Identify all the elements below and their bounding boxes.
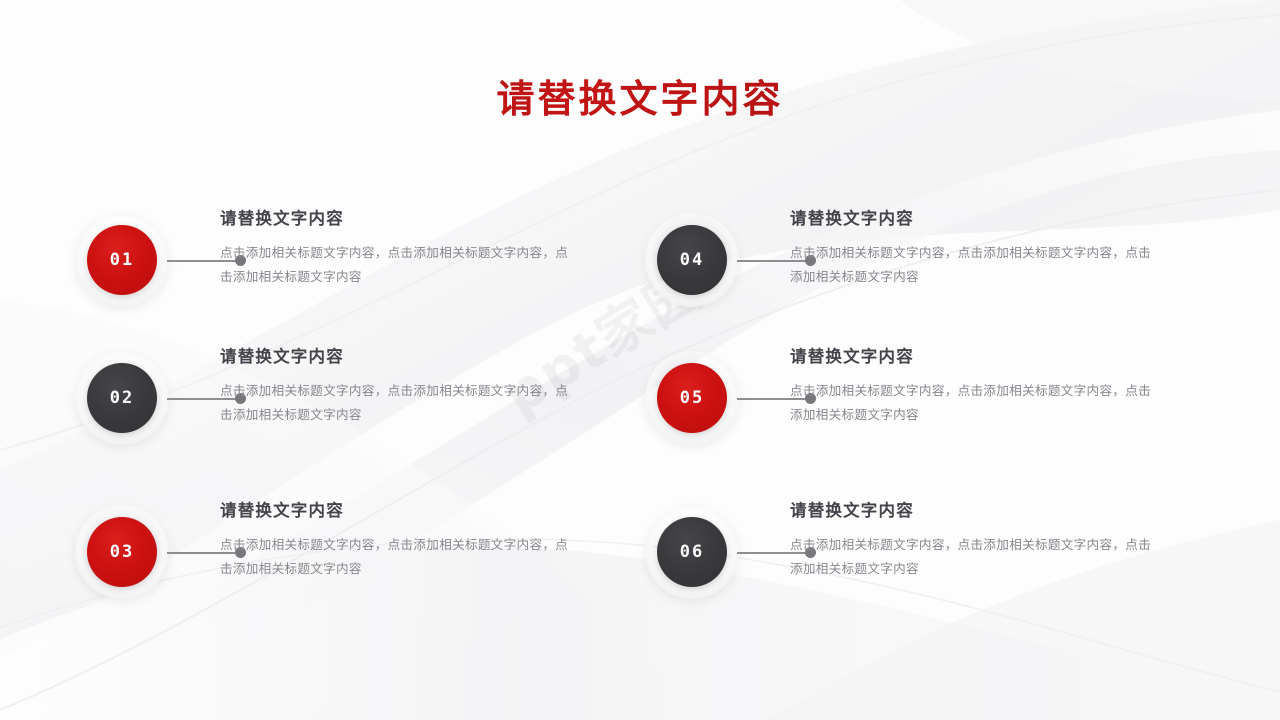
item-heading-05: 请替换文字内容 bbox=[790, 347, 1190, 367]
info-item-06[interactable]: 06 请替换文字内容 点击添加相关标题文字内容，点击添加相关标题文字内容，点击添… bbox=[632, 482, 1202, 602]
item-heading-04: 请替换文字内容 bbox=[790, 209, 1190, 229]
text-block-02: 请替换文字内容 点击添加相关标题文字内容，点击添加相关标题文字内容，点击添加相关… bbox=[220, 347, 620, 428]
number-badge-02[interactable]: 02 bbox=[87, 363, 157, 433]
item-heading-06: 请替换文字内容 bbox=[790, 501, 1190, 521]
text-block-04: 请替换文字内容 点击添加相关标题文字内容，点击添加相关标题文字内容，点击添加相关… bbox=[790, 209, 1190, 290]
item-body-06: 点击添加相关标题文字内容，点击添加相关标题文字内容，点击添加相关标题文字内容 bbox=[790, 533, 1152, 582]
item-heading-03: 请替换文字内容 bbox=[220, 501, 620, 521]
badge-wrap-02: 02 bbox=[75, 351, 169, 445]
item-heading-02: 请替换文字内容 bbox=[220, 347, 620, 367]
number-badge-01[interactable]: 01 bbox=[87, 225, 157, 295]
item-body-04: 点击添加相关标题文字内容，点击添加相关标题文字内容，点击添加相关标题文字内容 bbox=[790, 241, 1152, 290]
item-body-01: 点击添加相关标题文字内容，点击添加相关标题文字内容，点击添加相关标题文字内容 bbox=[220, 241, 580, 290]
number-badge-05[interactable]: 05 bbox=[657, 363, 727, 433]
info-item-02[interactable]: 02 请替换文字内容 点击添加相关标题文字内容，点击添加相关标题文字内容，点击添… bbox=[62, 328, 632, 448]
items-container: 01 请替换文字内容 点击添加相关标题文字内容，点击添加相关标题文字内容，点击添… bbox=[0, 0, 1280, 720]
badge-wrap-05: 05 bbox=[645, 351, 739, 445]
info-item-05[interactable]: 05 请替换文字内容 点击添加相关标题文字内容，点击添加相关标题文字内容，点击添… bbox=[632, 328, 1202, 448]
item-heading-01: 请替换文字内容 bbox=[220, 209, 620, 229]
text-block-03: 请替换文字内容 点击添加相关标题文字内容，点击添加相关标题文字内容，点击添加相关… bbox=[220, 501, 620, 582]
info-item-04[interactable]: 04 请替换文字内容 点击添加相关标题文字内容，点击添加相关标题文字内容，点击添… bbox=[632, 190, 1202, 310]
badge-wrap-01: 01 bbox=[75, 213, 169, 307]
info-item-03[interactable]: 03 请替换文字内容 点击添加相关标题文字内容，点击添加相关标题文字内容，点击添… bbox=[62, 482, 632, 602]
badge-wrap-03: 03 bbox=[75, 505, 169, 599]
number-badge-04[interactable]: 04 bbox=[657, 225, 727, 295]
badge-wrap-06: 06 bbox=[645, 505, 739, 599]
item-body-03: 点击添加相关标题文字内容，点击添加相关标题文字内容，点击添加相关标题文字内容 bbox=[220, 533, 580, 582]
text-block-05: 请替换文字内容 点击添加相关标题文字内容，点击添加相关标题文字内容，点击添加相关… bbox=[790, 347, 1190, 428]
item-body-02: 点击添加相关标题文字内容，点击添加相关标题文字内容，点击添加相关标题文字内容 bbox=[220, 379, 580, 428]
badge-wrap-04: 04 bbox=[645, 213, 739, 307]
text-block-06: 请替换文字内容 点击添加相关标题文字内容，点击添加相关标题文字内容，点击添加相关… bbox=[790, 501, 1190, 582]
slide-canvas: ppt家园 请替换文字内容 01 请替换文字内容 点击添加相关标题文字内容，点击… bbox=[0, 0, 1280, 720]
number-badge-03[interactable]: 03 bbox=[87, 517, 157, 587]
info-item-01[interactable]: 01 请替换文字内容 点击添加相关标题文字内容，点击添加相关标题文字内容，点击添… bbox=[62, 190, 632, 310]
item-body-05: 点击添加相关标题文字内容，点击添加相关标题文字内容，点击添加相关标题文字内容 bbox=[790, 379, 1152, 428]
number-badge-06[interactable]: 06 bbox=[657, 517, 727, 587]
text-block-01: 请替换文字内容 点击添加相关标题文字内容，点击添加相关标题文字内容，点击添加相关… bbox=[220, 209, 620, 290]
